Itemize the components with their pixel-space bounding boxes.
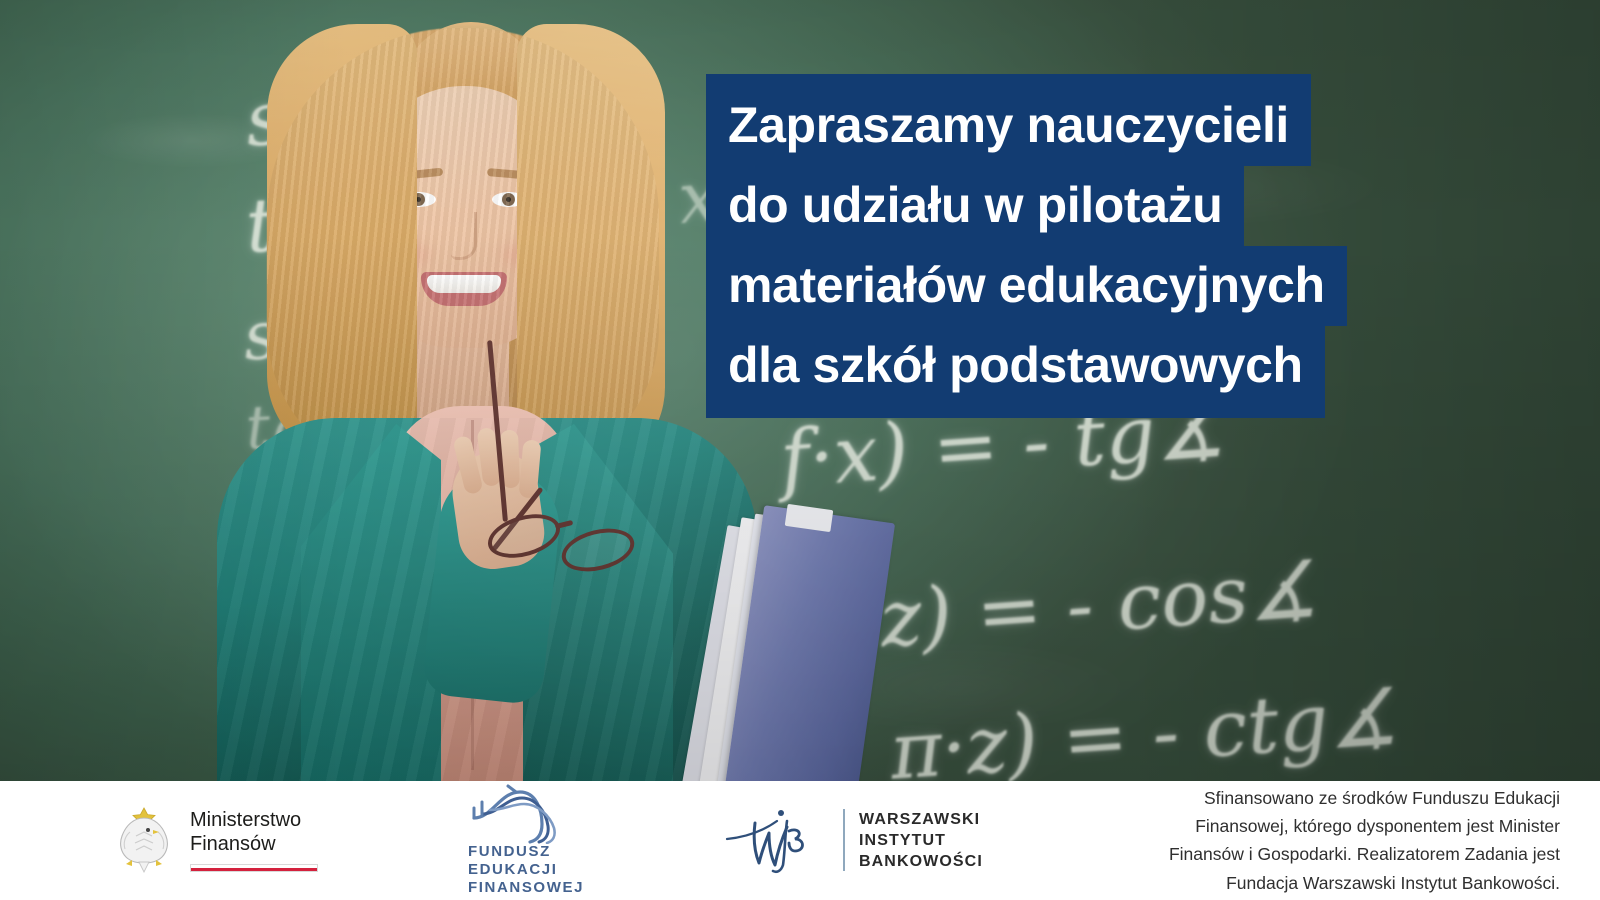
headline-banner: Zapraszamy nauczycieli do udziału w pilo…: [706, 74, 1476, 418]
photo-stage: sin tg sin tg + x f·x) = - tg∡ z) = - co…: [0, 0, 1600, 781]
wib-logo-divider: [843, 809, 845, 871]
headline-line-4: dla szkół podstawowych: [706, 326, 1325, 418]
fef-line-3: FINANSOWEJ: [468, 879, 590, 897]
fef-line-1: FUNDUSZ: [468, 843, 590, 861]
funding-line-1: Sfinansowano ze środków Funduszu Edukacj…: [1169, 784, 1560, 812]
headline-line-2: do udziału w pilotażu: [706, 166, 1244, 246]
promotional-poster: sin tg sin tg + x f·x) = - tg∡ z) = - co…: [0, 0, 1600, 900]
wib-logo: WARSZAWSKI INSTYTUT BANKOWOŚCI: [725, 801, 983, 880]
ministry-name-line-2: Finansów: [190, 833, 318, 857]
polish-flag-stripe: [190, 864, 318, 872]
polish-eagle-emblem-icon: [112, 802, 176, 879]
wib-line-3: BANKOWOŚCI: [859, 851, 983, 872]
fef-line-2: EDUKACJI: [468, 861, 590, 879]
headline-line-1: Zapraszamy nauczycieli: [706, 74, 1311, 166]
funding-line-2: Finansowej, którego dysponentem jest Min…: [1169, 812, 1560, 840]
funding-line-4: Fundacja Warszawski Instytut Bankowości.: [1169, 869, 1560, 897]
fundusz-edukacji-finansowej-logo: FUNDUSZ EDUKACJI FINANSOWEJ: [468, 784, 590, 898]
ministry-name-line-1: Ministerstwo: [190, 809, 318, 833]
ministry-of-finance-logo: Ministerstwo Finansów: [112, 802, 318, 879]
fef-wave-mark-icon: [468, 784, 590, 849]
wib-line-2: INSTYTUT: [859, 830, 983, 851]
headline-line-3: materiałów edukacyjnych: [706, 246, 1347, 326]
funding-line-3: Finansów i Gospodarki. Realizatorem Zada…: [1169, 840, 1560, 868]
wib-signature-mark-icon: [725, 801, 829, 880]
funding-statement: Sfinansowano ze środków Funduszu Edukacj…: [1169, 784, 1560, 897]
footer-bar: Ministerstwo Finansów FUNDUSZ: [0, 781, 1600, 900]
wib-line-1: WARSZAWSKI: [859, 809, 983, 830]
